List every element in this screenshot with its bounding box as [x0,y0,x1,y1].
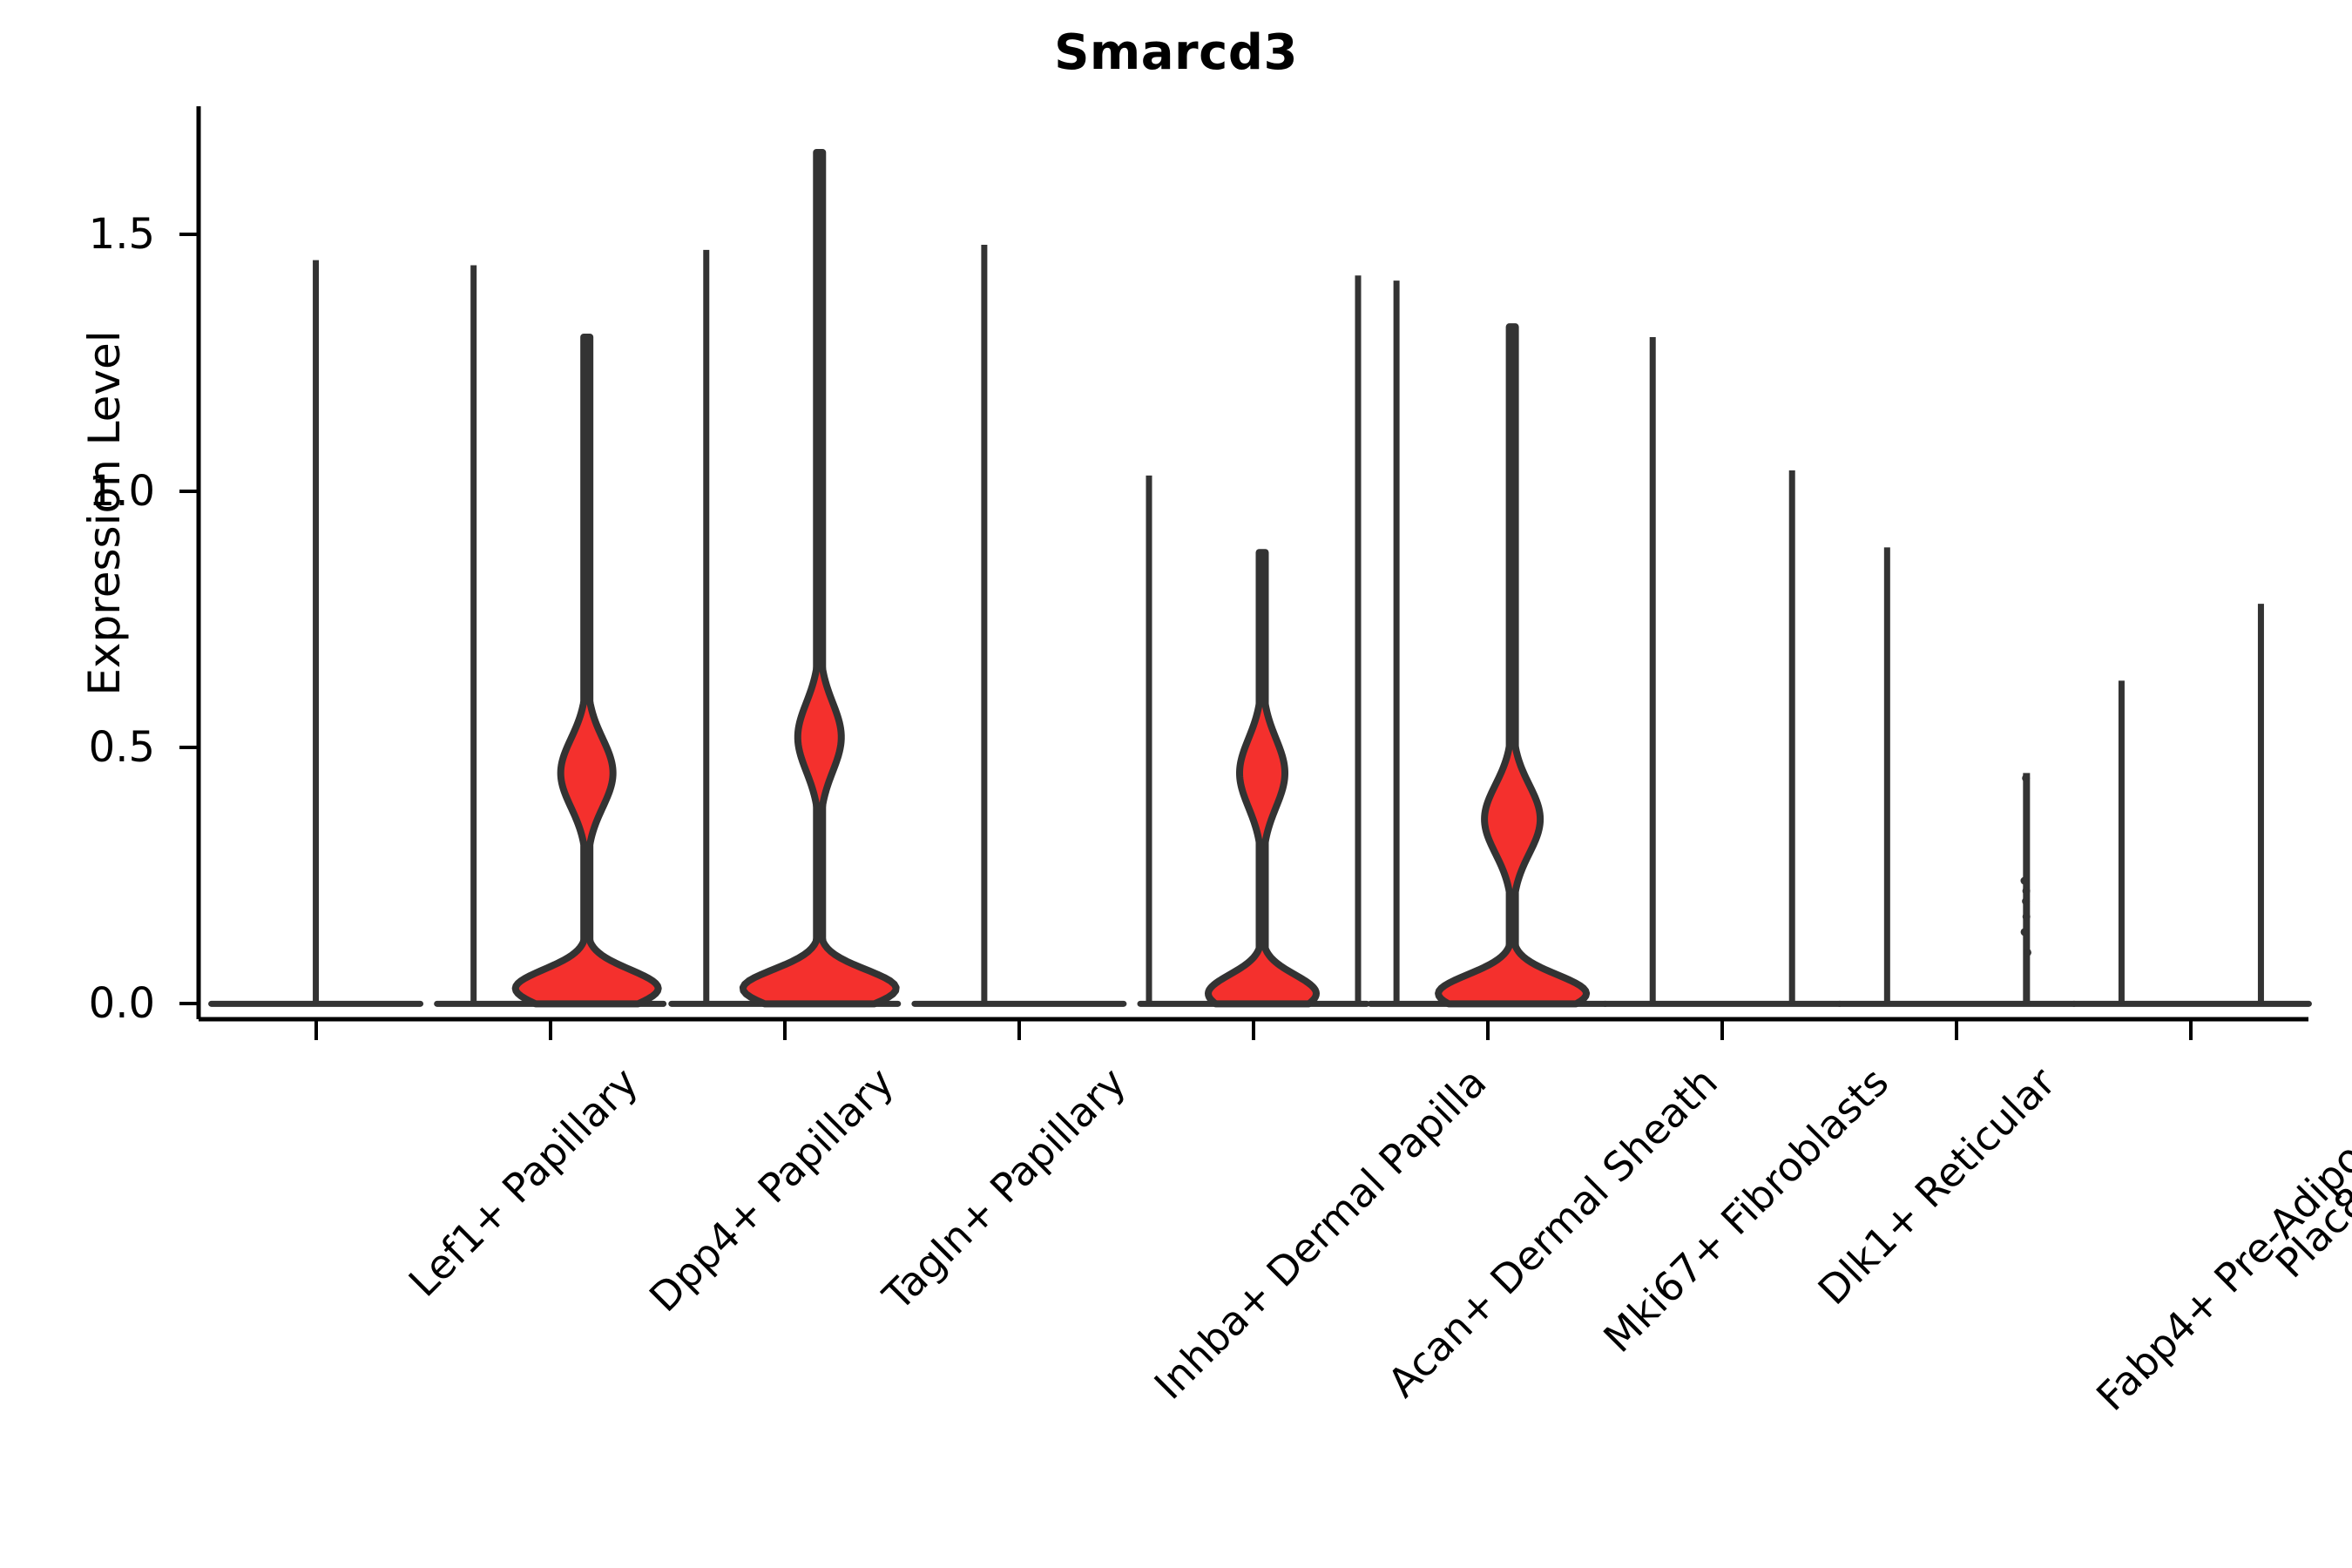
violin-jitter-point [2024,949,2031,956]
violin-jitter-point [2021,928,2029,936]
violin-plot-figure: Smarcd3 Expression Level 0.00.51.01.5 Le… [0,0,2352,1568]
violin-plot-canvas [0,0,2352,1568]
violin-body-mki67 [1438,327,1586,1004]
violin-jitter-point [2022,774,2030,782]
violin-jitter-point [2022,897,2030,905]
violin-jitter-point [2023,913,2031,921]
violin-jitter-point [2020,877,2028,885]
violin-body-tagln [743,152,896,1004]
violin-body-acan [1208,552,1316,1004]
violin-body-dpp4 [516,337,659,1004]
violin-jitter-point [2023,887,2031,895]
